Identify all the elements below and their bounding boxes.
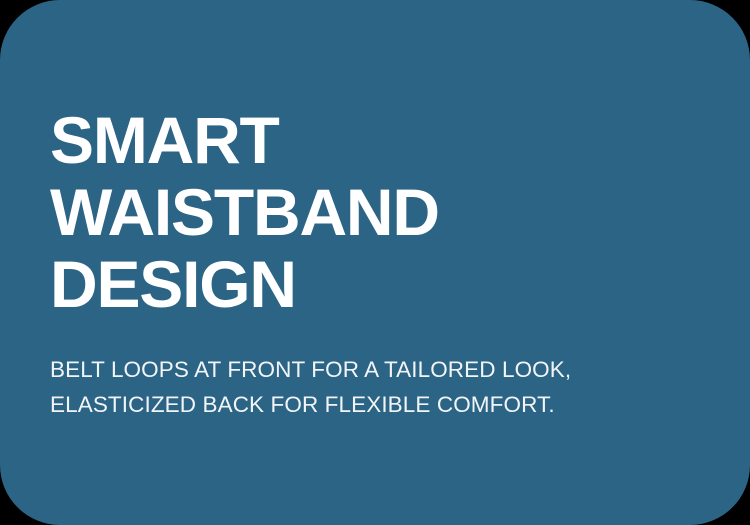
subtitle-line-2: ELASTICIZED BACK FOR FLEXIBLE COMFORT. [50,387,670,422]
subtitle-line-1: BELT LOOPS AT FRONT FOR A TAILORED LOOK, [50,352,670,387]
headline-line-1: SMART [50,104,670,176]
headline-line-3: DESIGN [50,248,670,320]
card-content: SMART WAISTBAND DESIGN BELT LOOPS AT FRO… [50,0,670,525]
subtitle: BELT LOOPS AT FRONT FOR A TAILORED LOOK,… [50,352,670,422]
feature-card: SMART WAISTBAND DESIGN BELT LOOPS AT FRO… [0,0,750,525]
page-title: SMART WAISTBAND DESIGN [50,104,670,320]
headline-line-2: WAISTBAND [50,176,670,248]
